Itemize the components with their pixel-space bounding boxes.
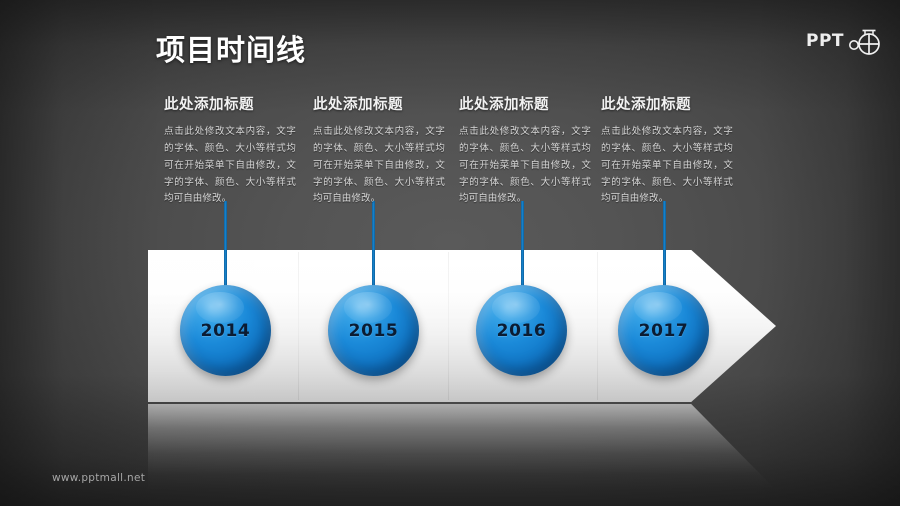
year-label: 2016: [497, 321, 547, 341]
pptmall-circle-cross-icon: [848, 26, 882, 56]
logo-text: PPT: [806, 31, 844, 51]
year-label: 2014: [201, 321, 251, 341]
milestone-heading: 此处添加标题: [459, 96, 591, 115]
milestone-heading: 此处添加标题: [313, 96, 445, 115]
footer-url: www.pptmall.net: [52, 472, 145, 484]
milestone-column-3[interactable]: 此处添加标题 点击此处修改文本内容，文字的字体、颜色、大小等样式均可在开始菜单下…: [459, 96, 591, 208]
milestone-heading: 此处添加标题: [164, 96, 296, 115]
milestone-body: 点击此处修改文本内容，文字的字体、颜色、大小等样式均可在开始菜单下自由修改，文字…: [164, 124, 296, 209]
milestone-columns: 此处添加标题 点击此处修改文本内容，文字的字体、颜色、大小等样式均可在开始菜单下…: [0, 0, 900, 506]
year-marker-2016[interactable]: 2016: [476, 285, 567, 376]
year-marker-2017[interactable]: 2017: [618, 285, 709, 376]
year-marker-2014[interactable]: 2014: [180, 285, 271, 376]
year-label: 2015: [349, 321, 399, 341]
year-marker-2015[interactable]: 2015: [328, 285, 419, 376]
brand-logo: PPT: [806, 26, 882, 56]
milestone-body: 点击此处修改文本内容，文字的字体、颜色、大小等样式均可在开始菜单下自由修改，文字…: [459, 124, 591, 209]
year-label: 2017: [639, 321, 689, 341]
slide-canvas: 项目时间线 PPT 此处添加标题 点击此处修改文本内容，文字的字体、颜色、大小等…: [0, 0, 900, 506]
page-title: 项目时间线: [156, 32, 306, 68]
milestone-column-1[interactable]: 此处添加标题 点击此处修改文本内容，文字的字体、颜色、大小等样式均可在开始菜单下…: [164, 96, 296, 208]
milestone-body: 点击此处修改文本内容，文字的字体、颜色、大小等样式均可在开始菜单下自由修改，文字…: [601, 124, 733, 209]
milestone-body: 点击此处修改文本内容，文字的字体、颜色、大小等样式均可在开始菜单下自由修改，文字…: [313, 124, 445, 209]
milestone-heading: 此处添加标题: [601, 96, 733, 115]
milestone-column-4[interactable]: 此处添加标题 点击此处修改文本内容，文字的字体、颜色、大小等样式均可在开始菜单下…: [601, 96, 733, 208]
milestone-column-2[interactable]: 此处添加标题 点击此处修改文本内容，文字的字体、颜色、大小等样式均可在开始菜单下…: [313, 96, 445, 208]
